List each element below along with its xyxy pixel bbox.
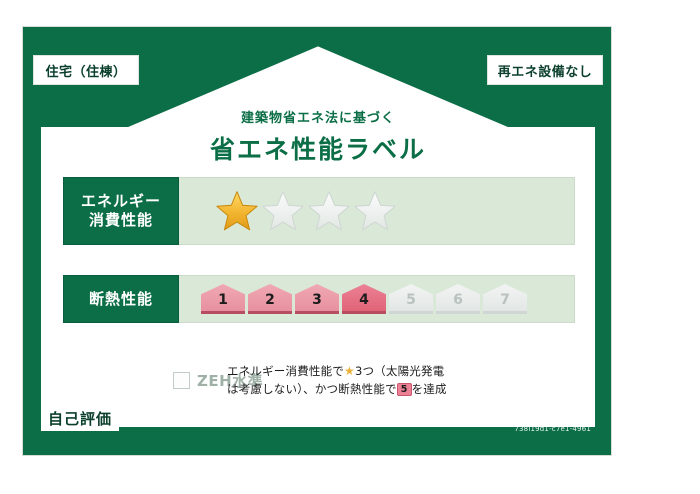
energy-performance-label-card: 住宅（住棟） 再エネ設備なし 建築物省エネ法に基づく 省エネ性能ラベル エネルギ… (22, 26, 612, 456)
grade-chip: 3 (295, 284, 339, 314)
evaluation-id: 738l19d1-c7e1-4961 (430, 425, 591, 433)
evaluation-meta: 評価日 2025年1月30日 738l19d1-c7e1-4961 (430, 404, 595, 433)
star-rating (215, 190, 397, 232)
energy-performance-row: エネルギー 消費性能 (63, 177, 575, 245)
star-icon-empty (307, 190, 351, 232)
zeh-note-line1-pre: エネルギー消費性能で (227, 364, 344, 378)
energy-performance-value (179, 177, 575, 245)
inline-grade-badge: 5 (397, 383, 412, 397)
property-address: 神奈川県大和市渋谷5丁目 (119, 409, 274, 428)
zeh-check-icon (173, 372, 190, 389)
insulation-performance-row: 断熱性能 1 2 3 4 5 6 7 (63, 275, 575, 323)
energy-label-line2: 消費性能 (89, 211, 153, 229)
insulation-performance-label: 断熱性能 (63, 275, 179, 323)
grade-chip-current: 4 (342, 284, 386, 314)
zeh-standard-badge: ZEH水準 (63, 370, 215, 391)
building-type-tab: 住宅（住棟） (33, 55, 139, 85)
zeh-note-line2: は考慮しない）、かつ断熱性能で5を達成 (227, 381, 447, 399)
grade-chip: 7 (483, 284, 527, 314)
star-icon-filled (215, 190, 259, 232)
grade-chip: 6 (436, 284, 480, 314)
evaluation-method-badge: 自己評価 (41, 406, 119, 431)
insulation-grade-scale: 1 2 3 4 5 6 7 (201, 284, 527, 314)
evaluation-date: 評価日 2025年1月30日 (430, 404, 591, 424)
zeh-note-line1-post: 3つ（太陽光発電 (355, 364, 444, 378)
renewable-equipment-tab: 再エネ設備なし (487, 55, 603, 85)
star-icon-empty (353, 190, 397, 232)
inline-star-icon: ★ (344, 364, 355, 378)
zeh-note-text: エネルギー消費性能で★3つ（太陽光発電 は考慮しない）、かつ断熱性能で5を達成 (215, 362, 447, 399)
zeh-note-line2-post: を達成 (412, 382, 447, 396)
insulation-performance-value: 1 2 3 4 5 6 7 (179, 275, 575, 323)
energy-label-line1: エネルギー (81, 192, 161, 210)
zeh-note-line1: エネルギー消費性能で★3つ（太陽光発電 (227, 362, 447, 381)
star-icon-empty (261, 190, 305, 232)
grade-chip: 5 (389, 284, 433, 314)
zeh-note-line2-pre: は考慮しない）、かつ断熱性能で (227, 382, 397, 396)
label-footer: 自己評価 神奈川県大和市渋谷5丁目 評価日 2025年1月30日 738l19d… (41, 397, 595, 439)
grade-chip: 2 (248, 284, 292, 314)
energy-performance-label: エネルギー 消費性能 (63, 177, 179, 245)
grade-chip: 1 (201, 284, 245, 314)
